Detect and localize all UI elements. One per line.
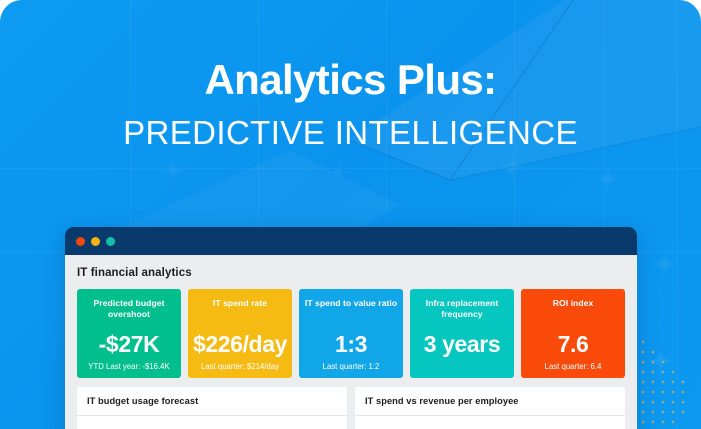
chart-panel-row: IT budget usage forecast IT spend vs rev… bbox=[77, 387, 625, 429]
decorative-grid-line bbox=[0, 168, 701, 169]
screenshot-root: Analytics Plus: PREDICTIVE INTELLIGENCE … bbox=[0, 0, 701, 429]
panel-title: IT budget usage forecast bbox=[77, 387, 347, 416]
panel-it-spend-vs-revenue-per-employee[interactable]: IT spend vs revenue per employee bbox=[355, 387, 625, 429]
kpi-value: 7.6 bbox=[526, 332, 620, 357]
page-title: Analytics Plus: bbox=[0, 58, 701, 103]
sparkle-icon bbox=[162, 160, 184, 187]
dashboard-heading: IT financial analytics bbox=[77, 267, 625, 279]
kpi-card-row: Predicted budget overshoot -$27K YTD Las… bbox=[77, 289, 625, 378]
page-subtitle: PREDICTIVE INTELLIGENCE bbox=[0, 113, 701, 153]
decorative-dot-grid bbox=[630, 338, 701, 429]
sparkle-icon bbox=[648, 348, 674, 379]
kpi-card-it-spend-rate[interactable]: IT spend rate $226/day Last quarter: $21… bbox=[188, 289, 292, 378]
kpi-label: Predicted budget overshoot bbox=[82, 298, 176, 319]
kpi-value: $226/day bbox=[193, 332, 287, 357]
dashboard-window: IT financial analytics Predicted budget … bbox=[65, 227, 637, 429]
kpi-label: IT spend rate bbox=[193, 298, 287, 309]
close-window-icon[interactable] bbox=[76, 237, 85, 246]
window-titlebar bbox=[65, 227, 637, 255]
kpi-value: -$27K bbox=[82, 332, 176, 357]
maximize-window-icon[interactable] bbox=[106, 237, 115, 246]
sparkle-icon bbox=[499, 154, 525, 185]
panel-it-budget-usage-forecast[interactable]: IT budget usage forecast bbox=[77, 387, 347, 429]
kpi-label: IT spend to value ratio bbox=[304, 298, 398, 309]
kpi-card-predicted-budget-overshoot[interactable]: Predicted budget overshoot -$27K YTD Las… bbox=[77, 289, 181, 378]
kpi-value: 1:3 bbox=[304, 332, 398, 357]
minimize-window-icon[interactable] bbox=[91, 237, 100, 246]
kpi-note: Last quarter: 1:2 bbox=[304, 362, 398, 371]
kpi-note bbox=[415, 362, 509, 371]
panel-title: IT spend vs revenue per employee bbox=[355, 387, 625, 416]
kpi-label: Infra replacement frequency bbox=[415, 298, 509, 319]
sparkle-icon bbox=[330, 163, 348, 186]
kpi-value: 3 years bbox=[415, 332, 509, 357]
kpi-card-roi-index[interactable]: ROI index 7.6 Last quarter: 6.4 bbox=[521, 289, 625, 378]
sparkle-icon bbox=[652, 252, 676, 281]
kpi-label: ROI index bbox=[526, 298, 620, 309]
kpi-card-infra-replacement-frequency[interactable]: Infra replacement frequency 3 years bbox=[410, 289, 514, 378]
sparkle-icon bbox=[596, 167, 620, 196]
window-body: IT financial analytics Predicted budget … bbox=[65, 255, 637, 429]
kpi-note: Last quarter: $214/day bbox=[193, 362, 287, 371]
kpi-note: Last quarter: 6.4 bbox=[526, 362, 620, 371]
kpi-card-it-spend-to-value-ratio[interactable]: IT spend to value ratio 1:3 Last quarter… bbox=[299, 289, 403, 378]
kpi-note: YTD Last year: -$16.4K bbox=[82, 362, 176, 371]
hero-heading-group: Analytics Plus: PREDICTIVE INTELLIGENCE bbox=[0, 58, 701, 152]
